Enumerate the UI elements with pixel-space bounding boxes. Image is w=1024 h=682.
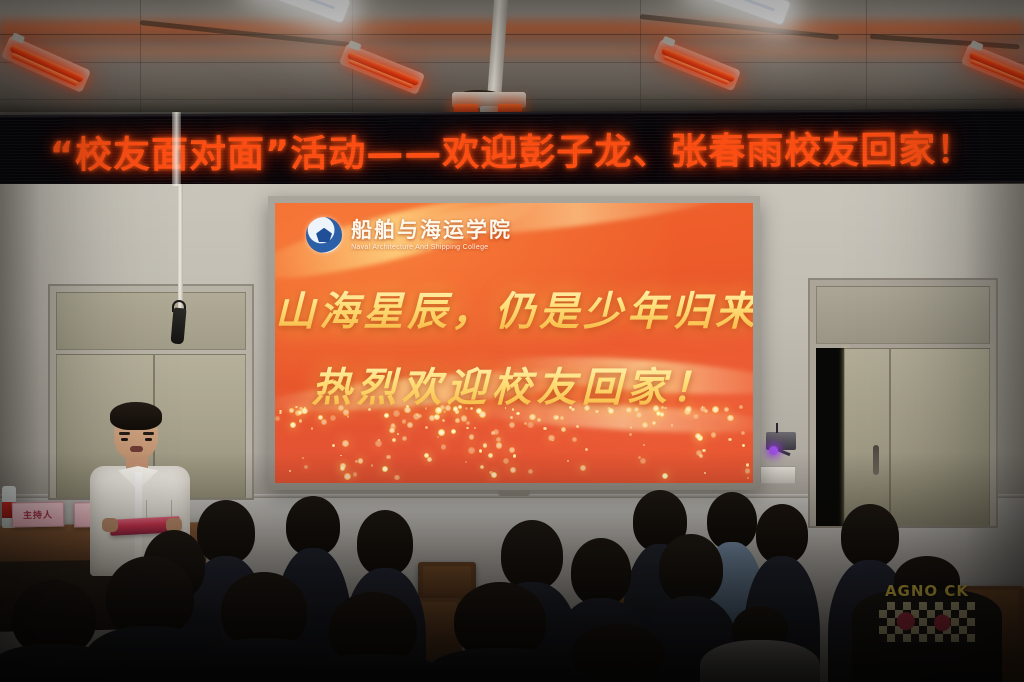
sparkle-particle (643, 444, 645, 446)
sparkle-particle (353, 472, 357, 476)
sparkle-particle (652, 421, 656, 425)
audience-head (659, 534, 723, 604)
sparkle-particle (629, 433, 632, 436)
sparkle-particle (608, 408, 614, 414)
sparkle-particle (585, 448, 587, 450)
sparkle-particle (340, 466, 346, 472)
speaker-eye (145, 438, 152, 441)
sparkle-particle (640, 458, 646, 464)
hanging-cable (178, 184, 183, 310)
sparkle-particle (455, 418, 460, 423)
sparkle-particle (344, 473, 351, 480)
projection-screen: 船舶与海运学院 Naval Architecture And Shipping … (268, 196, 760, 490)
presentation-slide: 船舶与海运学院 Naval Architecture And Shipping … (275, 203, 753, 483)
sparkle-particle (394, 475, 400, 481)
sparkle-particle (561, 427, 566, 432)
ceiling-seam (0, 62, 1024, 63)
college-emblem-icon (306, 217, 342, 253)
sparkle-particle (466, 427, 469, 430)
audience-person-hoodie: AGNO CK (852, 556, 1002, 682)
sparkle-particle (368, 408, 371, 411)
sparkle-particle (537, 418, 542, 423)
audience-person (548, 624, 688, 682)
sparkle-particle (567, 460, 569, 462)
wall-sensor-device[interactable] (766, 432, 796, 450)
sparkle-particle (451, 429, 456, 434)
sparkle-particle (510, 416, 513, 419)
sparkle-particle (626, 407, 631, 412)
sparkle-particle (295, 406, 298, 409)
door-right-mullion (889, 349, 891, 525)
sparkle-particle (699, 454, 703, 458)
hoodie-text: AGNO CK (875, 582, 979, 600)
college-logo: 船舶与海运学院 Naval Architecture And Shipping … (306, 217, 512, 253)
slide-headline-line1: 山海星辰，仍是少年归来。 (275, 279, 753, 337)
speaker-hand-left (102, 518, 118, 532)
sparkle-particle (595, 410, 599, 414)
sparkle-particle (685, 406, 691, 412)
sparkle-particle (289, 470, 291, 472)
sparkle-particle (342, 440, 349, 447)
door-left-transom (56, 292, 246, 350)
sparkle-particle (479, 449, 482, 452)
sparkle-particle (386, 455, 391, 460)
sparkle-particle (340, 455, 342, 457)
sparkle-particle (375, 440, 382, 447)
sparkle-particle (572, 437, 577, 442)
sparkle-particle (493, 429, 500, 436)
speaker-brow (143, 432, 154, 435)
wall-sensor-stem (776, 423, 778, 433)
sparkle-particle (480, 465, 484, 469)
sparkle-particle (466, 421, 470, 425)
door-right-open-gap (816, 348, 846, 526)
sparkle-particle (503, 458, 509, 464)
audience-person (700, 606, 820, 682)
hoodie-graphic: AGNO CK (875, 582, 979, 642)
sparkle-particle (741, 431, 745, 435)
sparkle-particle (553, 415, 558, 420)
sparkle-particle (728, 438, 732, 442)
sparkle-particle (529, 414, 536, 421)
ceiling-seam (866, 0, 867, 112)
projector-lens-glow-left (454, 104, 478, 112)
sparkle-particle (445, 405, 451, 411)
sparkle-particle (543, 427, 547, 431)
sparkle-particle (402, 419, 406, 423)
sparkle-particle (465, 407, 468, 410)
sparkle-particle (330, 415, 337, 422)
sparkle-particle (332, 444, 335, 447)
lecture-hall-scene: “校友面对面”活动——欢迎彭子龙、张春雨校友回家！ (0, 0, 1024, 682)
door-right[interactable] (808, 278, 998, 528)
sparkle-particle (392, 438, 397, 443)
ceiling (0, 0, 1024, 112)
sparkle-particle (584, 405, 590, 411)
audience-head (286, 496, 340, 556)
sparkle-particle (382, 466, 388, 472)
ceiling-seam (140, 0, 141, 112)
sparkle-particle (483, 443, 487, 447)
sparkle-particle (289, 408, 293, 412)
college-name-cn: 船舶与海运学院 (351, 220, 512, 241)
speaker-mouth (130, 446, 143, 452)
sparkle-particle (509, 447, 515, 453)
sparkle-particle (391, 423, 395, 427)
sparkle-particle (634, 407, 639, 412)
slide-sparkle-particles (275, 388, 753, 483)
sparkle-particle (528, 469, 533, 474)
audience-head (571, 538, 631, 606)
sparkle-particle (560, 416, 565, 421)
sparkle-particle (552, 440, 554, 442)
sparkle-particle (745, 468, 750, 473)
sparkle-particle (299, 419, 303, 423)
sparkle-particle (321, 419, 328, 426)
sparkle-particle (279, 410, 282, 413)
sparkle-particle (304, 465, 308, 469)
sparkle-particle (747, 477, 749, 479)
wall-outlet-plate[interactable] (760, 466, 796, 484)
college-name-en: Naval Architecture And Shipping College (351, 244, 512, 251)
sparkle-particle (516, 412, 519, 415)
sparkle-particle (438, 429, 445, 436)
audience-shoulders (84, 626, 216, 682)
projector-notch (480, 106, 498, 112)
sparkle-particle (304, 407, 306, 409)
sparkle-particle (512, 408, 514, 410)
sparkle-particle (496, 442, 503, 449)
sparkle-particle (704, 472, 706, 474)
sparkle-particle (302, 457, 304, 459)
namecard-host-text: 主持人 (23, 508, 53, 522)
ceiling-projector (452, 92, 526, 112)
sparkle-particle (727, 415, 734, 422)
namecard-host: 主持人 (12, 502, 64, 528)
sparkle-particle (389, 428, 395, 434)
sparkle-particle (576, 425, 579, 428)
door-right-transom (816, 286, 990, 344)
sparkle-particle (527, 422, 534, 429)
sparkle-particle (636, 412, 642, 418)
sparkle-particle (474, 427, 476, 429)
speaker-eye (121, 438, 128, 441)
audience-person (84, 556, 216, 682)
sparkle-particle (711, 432, 717, 438)
sparkle-particle (505, 407, 507, 409)
ceiling-red-glow-band-secondary (0, 40, 1024, 62)
vertical-pole (172, 112, 181, 186)
audience-shoulders-light (700, 640, 820, 682)
sparkle-particle (429, 415, 435, 421)
audience-head (572, 624, 664, 682)
sparkle-particle (468, 447, 474, 453)
sparkle-particle (441, 444, 447, 450)
sparkle-particle (739, 405, 743, 409)
door-right-handle[interactable] (873, 445, 879, 475)
sparkle-particle (413, 413, 420, 420)
audience-shoulders (306, 654, 440, 682)
sparkle-particle (425, 407, 428, 410)
sparkle-particle (275, 416, 279, 420)
led-banner-text: “校友面对面”活动——欢迎彭子龙、张春雨校友回家！ (50, 119, 975, 179)
sparkle-particle (513, 454, 516, 457)
audience-head (357, 510, 413, 576)
sparkle-particle (569, 406, 572, 409)
sparkle-particle (437, 436, 439, 438)
sparkle-particle (371, 464, 374, 467)
sparkle-particle (427, 457, 432, 462)
audience-head (501, 520, 563, 590)
sparkle-particle (724, 407, 729, 412)
door-right-leaf[interactable] (844, 348, 990, 526)
sparkle-particle (465, 461, 467, 463)
hoodie-checker-pattern (879, 602, 975, 642)
sparkle-particle (393, 410, 400, 417)
sparkle-particle (397, 433, 399, 435)
sparkle-particle (407, 422, 413, 428)
sparkle-particle (712, 406, 719, 413)
sparkle-particle (693, 414, 698, 419)
sparkle-particle (488, 453, 493, 458)
sparkle-particle (746, 463, 750, 467)
sparkle-particle (402, 436, 407, 441)
sparkle-particle (630, 426, 633, 429)
sparkle-particle (404, 407, 410, 413)
sparkle-particle (311, 427, 314, 430)
sparkle-particle (509, 422, 515, 428)
sparkle-particle (489, 471, 493, 475)
sparkle-particle (425, 426, 428, 429)
college-logo-text: 船舶与海运学院 Naval Architecture And Shipping … (351, 220, 512, 251)
sparkle-particle (442, 419, 445, 422)
sparkle-particle (662, 473, 668, 479)
sparkle-particle (702, 449, 706, 453)
sparkle-particle (695, 433, 701, 439)
speaker-hair (110, 402, 162, 430)
sparkle-particle (358, 458, 364, 464)
sparkle-particle (671, 425, 673, 427)
wall-sensor-led-icon (769, 446, 778, 455)
audience-head (756, 504, 808, 564)
sparkle-particle (642, 422, 648, 428)
sparkle-particle (742, 444, 744, 446)
speaker-brow (119, 432, 130, 435)
sparkle-particle (470, 407, 473, 410)
sparkle-particle (664, 407, 666, 409)
sparkle-particle (580, 465, 586, 471)
sparkle-particle (458, 405, 462, 409)
audience-person (306, 592, 440, 682)
sparkle-particle (524, 422, 527, 425)
sparkle-particle (496, 437, 501, 442)
sparkle-particle (384, 413, 389, 418)
sparkle-particle (510, 467, 516, 473)
sparkle-particle (469, 434, 474, 439)
sparkle-particle (704, 409, 708, 413)
sparkle-particle (290, 422, 296, 428)
led-banner: “校友面对面”活动——欢迎彭子龙、张春雨校友回家！ (0, 109, 1024, 189)
sparkle-particle (343, 409, 350, 416)
projector-lens-glow-right (498, 104, 522, 112)
sparkle-particle (298, 410, 303, 415)
sparkle-particle (571, 408, 575, 412)
